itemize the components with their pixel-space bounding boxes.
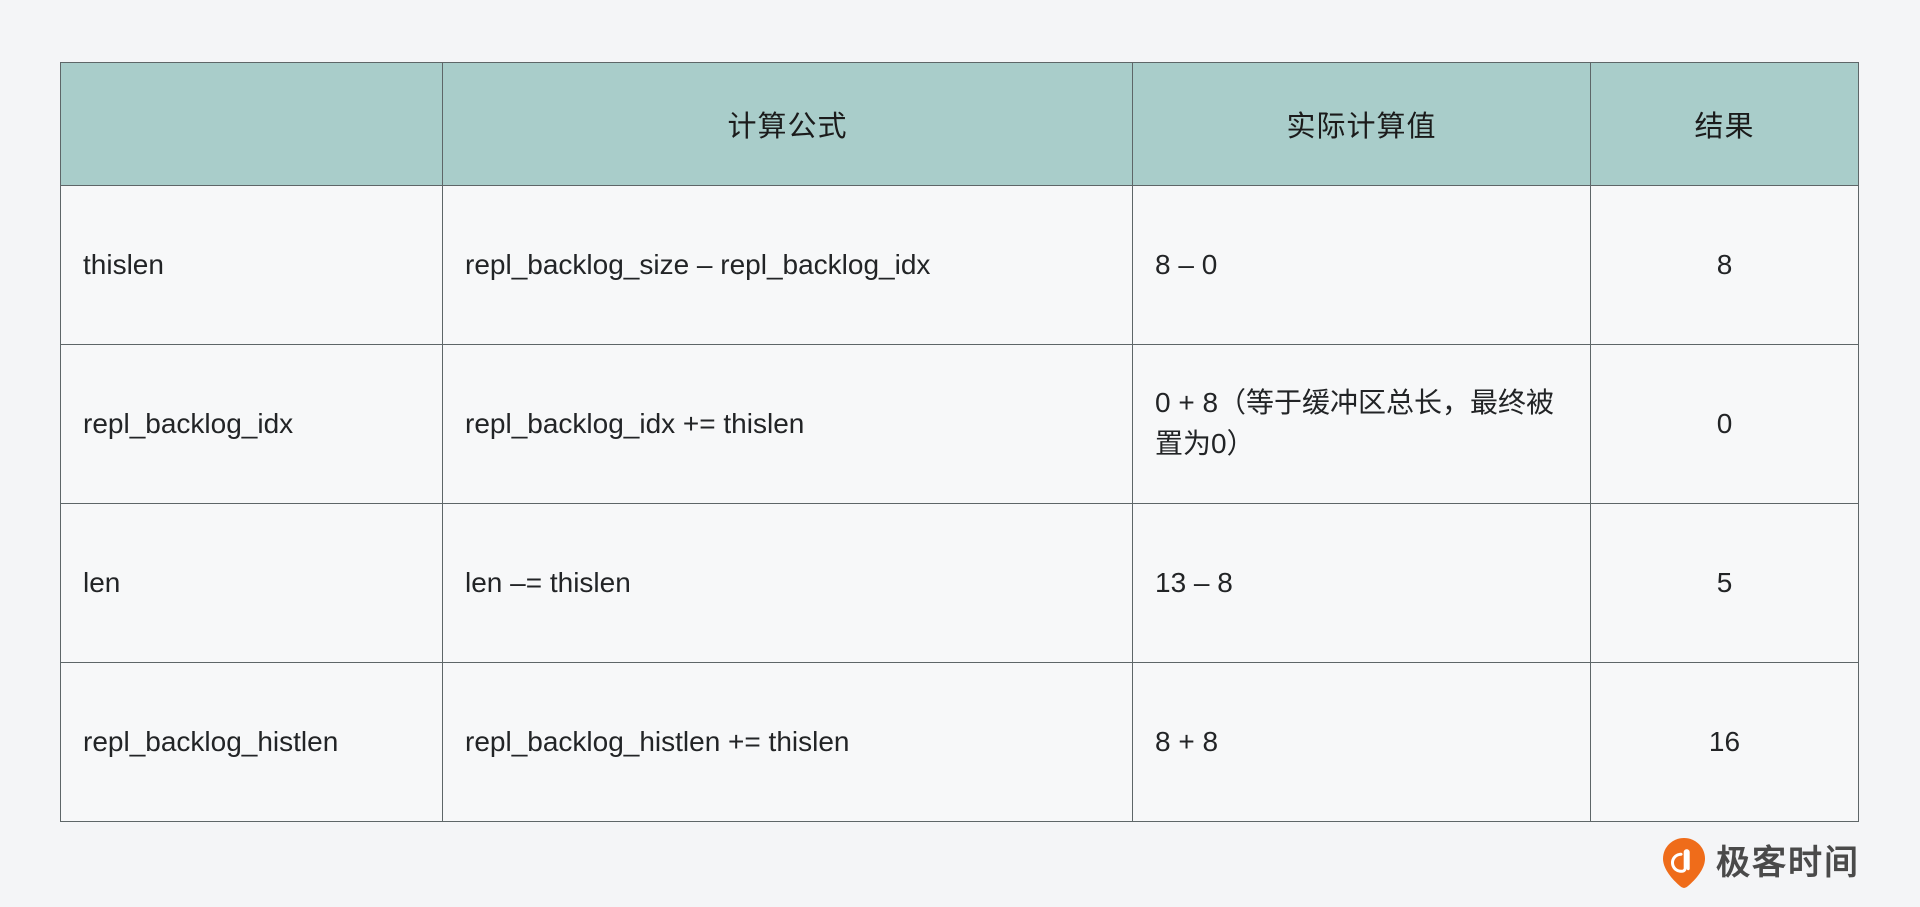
cell-result: 16 — [1591, 663, 1859, 822]
column-header-actual-value: 实际计算值 — [1133, 63, 1591, 186]
cell-variable-name: repl_backlog_histlen — [61, 663, 443, 822]
column-header-result: 结果 — [1591, 63, 1859, 186]
cell-variable-name: thislen — [61, 186, 443, 345]
cell-result: 0 — [1591, 345, 1859, 504]
cell-actual-value: 13 – 8 — [1133, 504, 1591, 663]
cell-result: 8 — [1591, 186, 1859, 345]
table-header: 计算公式 实际计算值 结果 — [61, 63, 1859, 186]
table-row: repl_backlog_histlen repl_backlog_histle… — [61, 663, 1859, 822]
cell-actual-value: 8 + 8 — [1133, 663, 1591, 822]
cell-formula: repl_backlog_idx += thislen — [443, 345, 1133, 504]
cell-variable-name: len — [61, 504, 443, 663]
cell-actual-value: 8 – 0 — [1133, 186, 1591, 345]
cell-variable-name: repl_backlog_idx — [61, 345, 443, 504]
column-header-formula: 计算公式 — [443, 63, 1133, 186]
column-header-name — [61, 63, 443, 186]
cell-formula: repl_backlog_size – repl_backlog_idx — [443, 186, 1133, 345]
cell-result: 5 — [1591, 504, 1859, 663]
table-body: thislen repl_backlog_size – repl_backlog… — [61, 186, 1859, 822]
calc-table-container: 计算公式 实际计算值 结果 thislen repl_backlog_size … — [60, 62, 1858, 822]
cell-formula: len –= thislen — [443, 504, 1133, 663]
table-row: repl_backlog_idx repl_backlog_idx += thi… — [61, 345, 1859, 504]
watermark-brand-text: 极客时间 — [1716, 846, 1860, 880]
page-root: 计算公式 实际计算值 结果 thislen repl_backlog_size … — [0, 0, 1920, 907]
watermark-logo: 极客时间 — [1663, 838, 1860, 888]
table-row: len len –= thislen 13 – 8 5 — [61, 504, 1859, 663]
calculation-table: 计算公式 实际计算值 结果 thislen repl_backlog_size … — [60, 62, 1859, 822]
header-row: 计算公式 实际计算值 结果 — [61, 63, 1859, 186]
geektime-pin-icon — [1663, 838, 1705, 888]
cell-formula: repl_backlog_histlen += thislen — [443, 663, 1133, 822]
table-row: thislen repl_backlog_size – repl_backlog… — [61, 186, 1859, 345]
cell-actual-value: 0 + 8（等于缓冲区总长，最终被置为0） — [1133, 345, 1591, 504]
